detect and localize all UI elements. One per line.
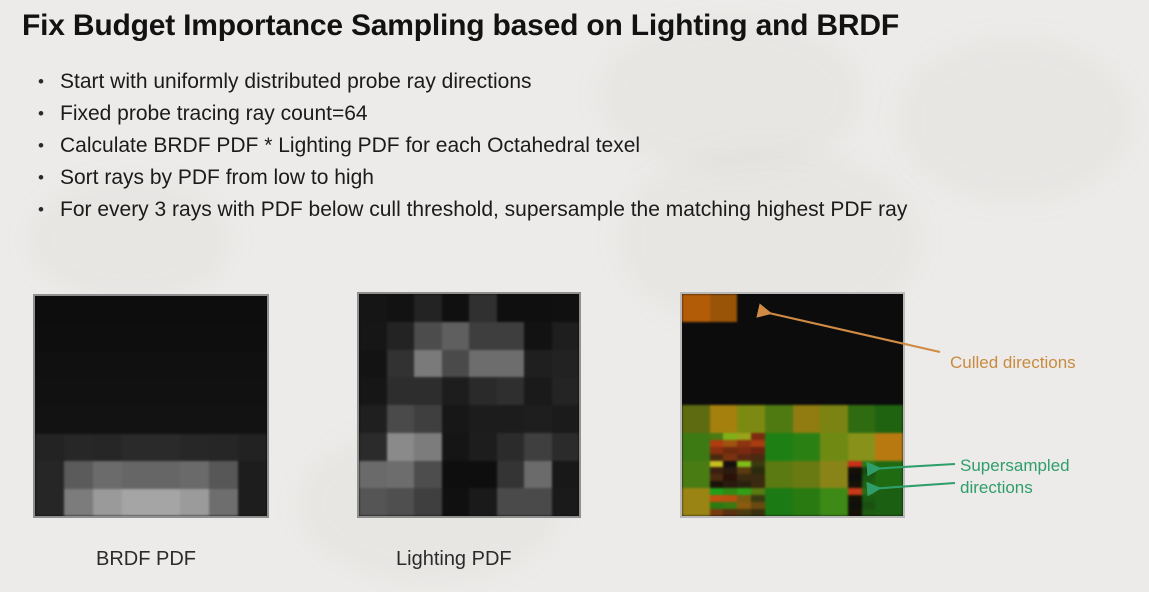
texel-cell [151,461,180,489]
texel-subcell [848,461,862,468]
texel-cell [122,489,151,517]
texel-cell [209,434,238,462]
texel-subcell [751,509,765,516]
slide-root: Fix Budget Importance Sampling based on … [0,0,1149,592]
texel-cell [737,405,765,433]
texel-cell [209,461,238,489]
texel-subcell [737,474,751,481]
texel-cell [793,405,821,433]
texel-cell [469,488,497,516]
texel-cell [710,405,738,433]
texel-subcell [751,467,765,474]
texel-subcell [710,454,724,461]
texel-cell [682,433,710,461]
texel-cell [238,324,267,352]
bullet-marker-icon: • [22,98,60,130]
texel-subcell [751,461,765,468]
texel-cell [820,433,848,461]
texel-subcell [751,433,765,440]
texel-cell [122,461,151,489]
texel-subcell [848,502,862,509]
texel-cell [524,377,552,405]
texel-cell [552,377,580,405]
texel-cell [238,296,267,324]
texel-cell [64,489,93,517]
texel-cell [387,488,415,516]
texel-subcell [862,481,876,488]
texel-cell [414,461,442,489]
texel-cell [524,350,552,378]
texel-cell [848,405,876,433]
texel-cell [209,296,238,324]
texel-cell [497,488,525,516]
texel-cell [442,405,470,433]
texel-cell [122,406,151,434]
texel-cell [35,461,64,489]
texel-cell [35,324,64,352]
texel-cell [765,433,793,461]
texel-cell [387,377,415,405]
bullet-marker-icon: • [22,66,60,98]
texel-cell [497,433,525,461]
texel-subcell [737,495,751,502]
figure-lighting-pdf [357,292,581,518]
bullet-marker-icon: • [22,130,60,162]
texel-cell [793,377,821,405]
supersampled-texel-cell [737,461,765,489]
supersampled-texel-cell [737,488,765,516]
texel-cell [820,322,848,350]
texel-subcell [710,474,724,481]
texel-cell [359,322,387,350]
texel-cell [238,489,267,517]
texel-cell [682,461,710,489]
list-item: • Start with uniformly distributed probe… [22,66,1142,98]
figure-caption-lighting: Lighting PDF [396,548,512,571]
texel-cell [93,461,122,489]
texel-cell [497,322,525,350]
texel-cell [387,294,415,322]
texel-subcell [723,440,737,447]
texel-cell [682,350,710,378]
texel-subcell [723,502,737,509]
texel-subcell [862,502,876,509]
texel-subcell [710,433,724,440]
texel-cell [151,296,180,324]
texel-cell [209,379,238,407]
texel-subcell [710,495,724,502]
texel-cell [238,461,267,489]
texel-cell [469,350,497,378]
texel-cell [414,294,442,322]
texel-cell [64,461,93,489]
texel-subcell [737,509,751,516]
texel-cell [151,489,180,517]
texel-cell [848,294,876,322]
texel-cell [414,377,442,405]
texel-subcell [862,509,876,516]
bullet-marker-icon: • [22,194,60,226]
texel-cell [848,322,876,350]
list-item-label: Sort rays by PDF from low to high [60,162,374,194]
texel-cell [737,322,765,350]
texel-cell [710,377,738,405]
texel-cell [682,377,710,405]
list-item-label: Start with uniformly distributed probe r… [60,66,532,98]
texel-cell [180,324,209,352]
texel-subcell [710,440,724,447]
texel-cell [524,405,552,433]
texel-cell [793,461,821,489]
list-item: • Fixed probe tracing ray count=64 [22,98,1142,130]
texel-cell [359,294,387,322]
list-item: • For every 3 rays with PDF below cull t… [22,194,1142,226]
culled-directions-label: Culled directions [950,352,1076,374]
supersampled-texel-cell [710,461,738,489]
texel-subcell [848,495,862,502]
texel-cell [93,434,122,462]
texel-cell [820,350,848,378]
texel-cell [238,434,267,462]
texel-cell [737,294,765,322]
texel-cell [820,377,848,405]
texel-cell [524,488,552,516]
texel-subcell [751,481,765,488]
bullet-marker-icon: • [22,162,60,194]
texel-cell [238,379,267,407]
texel-cell [765,322,793,350]
list-item-label: Fixed probe tracing ray count=64 [60,98,368,130]
texel-cell [682,405,710,433]
texel-subcell [862,474,876,481]
texel-cell [497,377,525,405]
texel-cell [875,461,903,489]
texel-cell [209,324,238,352]
texel-cell [552,350,580,378]
texel-subcell [737,481,751,488]
texel-subcell [848,467,862,474]
texel-subcell [737,433,751,440]
texel-subcell [751,502,765,509]
list-item-label: For every 3 rays with PDF below cull thr… [60,194,907,226]
texel-cell [387,350,415,378]
texel-subcell [848,509,862,516]
texel-subcell [751,447,765,454]
texel-cell [93,406,122,434]
texel-cell [848,377,876,405]
texel-cell [359,488,387,516]
texel-cell [820,405,848,433]
texel-cell [442,377,470,405]
texel-cell [414,350,442,378]
texel-subcell [723,481,737,488]
texel-cell [552,322,580,350]
supersampled-texel-cell [710,433,738,461]
lighting-pdf-texel-grid [359,294,579,516]
figure-caption-brdf: BRDF PDF [96,548,196,571]
texel-cell [151,351,180,379]
texel-cell [122,379,151,407]
texel-cell [35,351,64,379]
texel-cell [524,294,552,322]
texel-cell [497,350,525,378]
texel-cell [710,350,738,378]
texel-subcell [710,467,724,474]
texel-cell [737,377,765,405]
texel-cell [64,296,93,324]
texel-cell [793,350,821,378]
texel-cell [209,406,238,434]
texel-subcell [710,461,724,468]
texel-subcell [737,447,751,454]
texel-cell [64,434,93,462]
texel-cell [93,379,122,407]
texel-cell [552,294,580,322]
texel-cell [122,351,151,379]
supersampled-texel-cell [737,433,765,461]
texel-subcell [751,440,765,447]
texel-cell [122,296,151,324]
texel-subcell [710,447,724,454]
texel-subcell [723,461,737,468]
texel-cell [35,296,64,324]
texel-cell [765,488,793,516]
texel-cell [710,294,738,322]
texel-cell [442,488,470,516]
texel-subcell [723,509,737,516]
supersampled-directions-label: Supersampled directions [960,455,1070,499]
supersampled-texel-cell [710,488,738,516]
texel-cell [524,461,552,489]
texel-cell [442,433,470,461]
texel-cell [469,461,497,489]
texel-cell [765,461,793,489]
texel-subcell [848,481,862,488]
texel-cell [682,488,710,516]
texel-cell [64,324,93,352]
texel-cell [387,461,415,489]
texel-cell [93,324,122,352]
texel-cell [793,488,821,516]
texel-cell [497,461,525,489]
texel-cell [35,489,64,517]
texel-cell [682,322,710,350]
texel-subcell [737,502,751,509]
texel-subcell [710,481,724,488]
texel-cell [359,350,387,378]
texel-cell [64,379,93,407]
texel-cell [469,322,497,350]
texel-cell [469,294,497,322]
texel-subcell [751,488,765,495]
texel-cell [180,406,209,434]
texel-cell [35,406,64,434]
texel-cell [180,434,209,462]
texel-cell [414,405,442,433]
texel-subcell [710,502,724,509]
texel-cell [151,406,180,434]
texel-cell [820,294,848,322]
texel-subcell [751,454,765,461]
bullet-list: • Start with uniformly distributed probe… [22,66,1142,226]
texel-cell [552,488,580,516]
list-item-label: Calculate BRDF PDF * Lighting PDF for ea… [60,130,640,162]
texel-subcell [737,488,751,495]
list-item: • Calculate BRDF PDF * Lighting PDF for … [22,130,1142,162]
page-title: Fix Budget Importance Sampling based on … [22,4,1132,48]
texel-cell [524,433,552,461]
texel-cell [442,461,470,489]
texel-cell [875,350,903,378]
supersampled-texel-cell [848,461,876,489]
texel-cell [552,405,580,433]
texel-cell [848,433,876,461]
texel-cell [238,351,267,379]
texel-subcell [737,440,751,447]
texel-cell [180,296,209,324]
texel-cell [359,405,387,433]
brdf-pdf-texel-grid [35,296,267,516]
texel-subcell [848,488,862,495]
texel-cell [64,406,93,434]
texel-cell [93,296,122,324]
texel-subcell [710,509,724,516]
texel-cell [820,461,848,489]
texel-subcell [723,474,737,481]
supersampled-texel-cell [848,488,876,516]
texel-subcell [862,461,876,468]
texel-cell [497,405,525,433]
texel-cell [238,406,267,434]
texel-cell [414,322,442,350]
texel-cell [875,488,903,516]
texel-cell [875,294,903,322]
texel-cell [359,377,387,405]
texel-subcell [751,495,765,502]
texel-cell [93,489,122,517]
texel-subcell [737,461,751,468]
texel-subcell [723,447,737,454]
texel-cell [151,324,180,352]
texel-subcell [862,495,876,502]
texel-cell [35,434,64,462]
texel-cell [793,322,821,350]
texel-cell [151,379,180,407]
texel-cell [180,379,209,407]
texel-cell [875,322,903,350]
texel-cell [414,488,442,516]
texel-cell [848,350,876,378]
texel-cell [387,322,415,350]
texel-cell [765,377,793,405]
texel-cell [765,350,793,378]
texel-subcell [848,474,862,481]
texel-cell [737,350,765,378]
texel-cell [387,405,415,433]
texel-subcell [723,433,737,440]
texel-cell [442,294,470,322]
texel-cell [469,377,497,405]
texel-cell [414,433,442,461]
supersampled-directions-label-line2: directions [960,477,1070,499]
texel-cell [93,351,122,379]
texel-cell [442,350,470,378]
texel-cell [793,433,821,461]
texel-cell [359,433,387,461]
texel-cell [497,294,525,322]
texel-cell [875,405,903,433]
texel-cell [710,322,738,350]
texel-subcell [862,467,876,474]
texel-cell [359,461,387,489]
texel-subcell [723,467,737,474]
texel-cell [524,322,552,350]
texel-subcell [723,488,737,495]
texel-cell [820,488,848,516]
texel-cell [180,461,209,489]
texel-subcell [723,454,737,461]
figure-combined-pdf [680,292,905,518]
texel-cell [552,461,580,489]
texel-cell [875,433,903,461]
texel-cell [793,294,821,322]
texel-subcell [710,488,724,495]
supersampled-directions-label-line1: Supersampled [960,455,1070,477]
texel-cell [442,322,470,350]
texel-cell [875,377,903,405]
texel-cell [765,294,793,322]
texel-cell [64,351,93,379]
texel-cell [209,351,238,379]
texel-cell [682,294,710,322]
texel-cell [151,434,180,462]
texel-cell [765,405,793,433]
combined-pdf-texel-grid [682,294,903,516]
texel-subcell [737,454,751,461]
texel-cell [180,489,209,517]
texel-cell [387,433,415,461]
texel-cell [180,351,209,379]
texel-cell [122,434,151,462]
texel-cell [35,379,64,407]
texel-subcell [751,474,765,481]
texel-cell [552,433,580,461]
texel-cell [122,324,151,352]
texel-subcell [723,495,737,502]
texel-subcell [737,467,751,474]
texel-cell [469,433,497,461]
texel-subcell [862,488,876,495]
list-item: • Sort rays by PDF from low to high [22,162,1142,194]
texel-cell [209,489,238,517]
texel-cell [469,405,497,433]
figure-brdf-pdf [33,294,269,518]
